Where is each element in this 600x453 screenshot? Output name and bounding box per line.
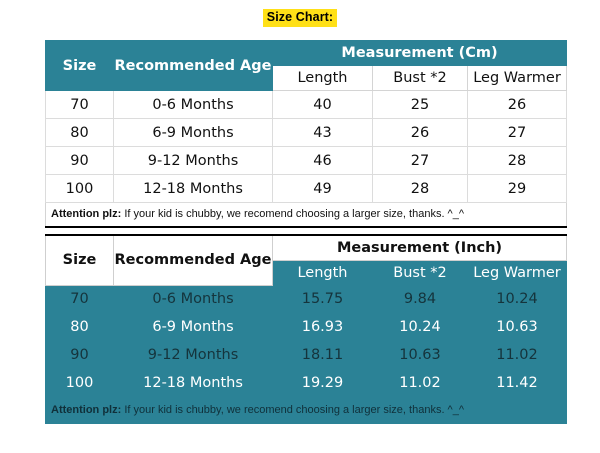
table-header-row-primary: Size Recommended Age Measurement (Cm) bbox=[46, 41, 567, 66]
attention-note-lead: Attention plz: bbox=[51, 208, 121, 220]
header-bust: Bust *2 bbox=[373, 66, 468, 91]
attention-note: Attention plz: If your kid is chubby, we… bbox=[46, 203, 567, 228]
cell-bust: 9.84 bbox=[373, 285, 468, 313]
cell-length: 19.29 bbox=[273, 369, 373, 397]
attention-note-body: If your kid is chubby, we recomend choos… bbox=[121, 208, 464, 220]
table-row: 90 9-12 Months 46 27 28 bbox=[46, 147, 567, 175]
cell-size: 100 bbox=[46, 369, 114, 397]
cell-age: 9-12 Months bbox=[114, 341, 273, 369]
cell-bust: 28 bbox=[373, 175, 468, 203]
table-note-row: Attention plz: If your kid is chubby, we… bbox=[46, 397, 567, 423]
cell-leg-warmer: 11.02 bbox=[468, 341, 567, 369]
attention-note-body: If your kid is chubby, we recomend choos… bbox=[121, 404, 464, 416]
cell-size: 80 bbox=[46, 119, 114, 147]
cell-leg-warmer: 11.42 bbox=[468, 369, 567, 397]
header-size: Size bbox=[46, 235, 114, 285]
cell-bust: 26 bbox=[373, 119, 468, 147]
cell-age: 6-9 Months bbox=[114, 119, 273, 147]
cell-age: 12-18 Months bbox=[114, 175, 273, 203]
table-row: 80 6-9 Months 43 26 27 bbox=[46, 119, 567, 147]
attention-note: Attention plz: If your kid is chubby, we… bbox=[46, 397, 567, 423]
size-chart-table-cm: Size Recommended Age Measurement (Cm) Le… bbox=[45, 40, 567, 228]
size-chart-table-inch: Size Recommended Age Measurement (Inch) … bbox=[45, 234, 567, 424]
cell-length: 43 bbox=[273, 119, 373, 147]
cell-length: 49 bbox=[273, 175, 373, 203]
cell-age: 0-6 Months bbox=[114, 285, 273, 313]
cell-size: 80 bbox=[46, 313, 114, 341]
header-size: Size bbox=[46, 41, 114, 91]
table-header-row-primary: Size Recommended Age Measurement (Inch) bbox=[46, 235, 567, 260]
cell-bust: 25 bbox=[373, 91, 468, 119]
page-title-text: Size Chart: bbox=[263, 9, 337, 27]
header-bust: Bust *2 bbox=[373, 260, 468, 285]
header-leg-warmer: Leg Warmer bbox=[468, 66, 567, 91]
header-recommended-age: Recommended Age bbox=[114, 41, 273, 91]
cell-size: 90 bbox=[46, 341, 114, 369]
cell-size: 70 bbox=[46, 91, 114, 119]
cell-leg-warmer: 10.24 bbox=[468, 285, 567, 313]
cell-age: 9-12 Months bbox=[114, 147, 273, 175]
cell-age: 6-9 Months bbox=[114, 313, 273, 341]
cell-leg-warmer: 10.63 bbox=[468, 313, 567, 341]
cell-leg-warmer: 29 bbox=[468, 175, 567, 203]
page-title: Size Chart: bbox=[0, 8, 600, 27]
cell-size: 90 bbox=[46, 147, 114, 175]
cell-bust: 10.63 bbox=[373, 341, 468, 369]
table-note-row: Attention plz: If your kid is chubby, we… bbox=[46, 203, 567, 228]
cell-length: 16.93 bbox=[273, 313, 373, 341]
cell-size: 70 bbox=[46, 285, 114, 313]
cell-leg-warmer: 28 bbox=[468, 147, 567, 175]
cell-age: 0-6 Months bbox=[114, 91, 273, 119]
attention-note-lead: Attention plz: bbox=[51, 404, 121, 416]
cell-leg-warmer: 27 bbox=[468, 119, 567, 147]
header-leg-warmer: Leg Warmer bbox=[468, 260, 567, 285]
cell-leg-warmer: 26 bbox=[468, 91, 567, 119]
cell-age: 12-18 Months bbox=[114, 369, 273, 397]
header-length: Length bbox=[273, 260, 373, 285]
table-row: 70 0-6 Months 40 25 26 bbox=[46, 91, 567, 119]
cell-length: 15.75 bbox=[273, 285, 373, 313]
table-row: 80 6-9 Months 16.93 10.24 10.63 bbox=[46, 313, 567, 341]
cell-length: 40 bbox=[273, 91, 373, 119]
cell-bust: 10.24 bbox=[373, 313, 468, 341]
table-row: 90 9-12 Months 18.11 10.63 11.02 bbox=[46, 341, 567, 369]
cell-bust: 11.02 bbox=[373, 369, 468, 397]
cell-length: 18.11 bbox=[273, 341, 373, 369]
cell-length: 46 bbox=[273, 147, 373, 175]
header-length: Length bbox=[273, 66, 373, 91]
table-row: 100 12-18 Months 49 28 29 bbox=[46, 175, 567, 203]
table-row: 100 12-18 Months 19.29 11.02 11.42 bbox=[46, 369, 567, 397]
table-row: 70 0-6 Months 15.75 9.84 10.24 bbox=[46, 285, 567, 313]
header-measurement-unit: Measurement (Cm) bbox=[273, 41, 567, 66]
cell-size: 100 bbox=[46, 175, 114, 203]
header-recommended-age: Recommended Age bbox=[114, 235, 273, 285]
cell-bust: 27 bbox=[373, 147, 468, 175]
header-measurement-unit: Measurement (Inch) bbox=[273, 235, 567, 260]
